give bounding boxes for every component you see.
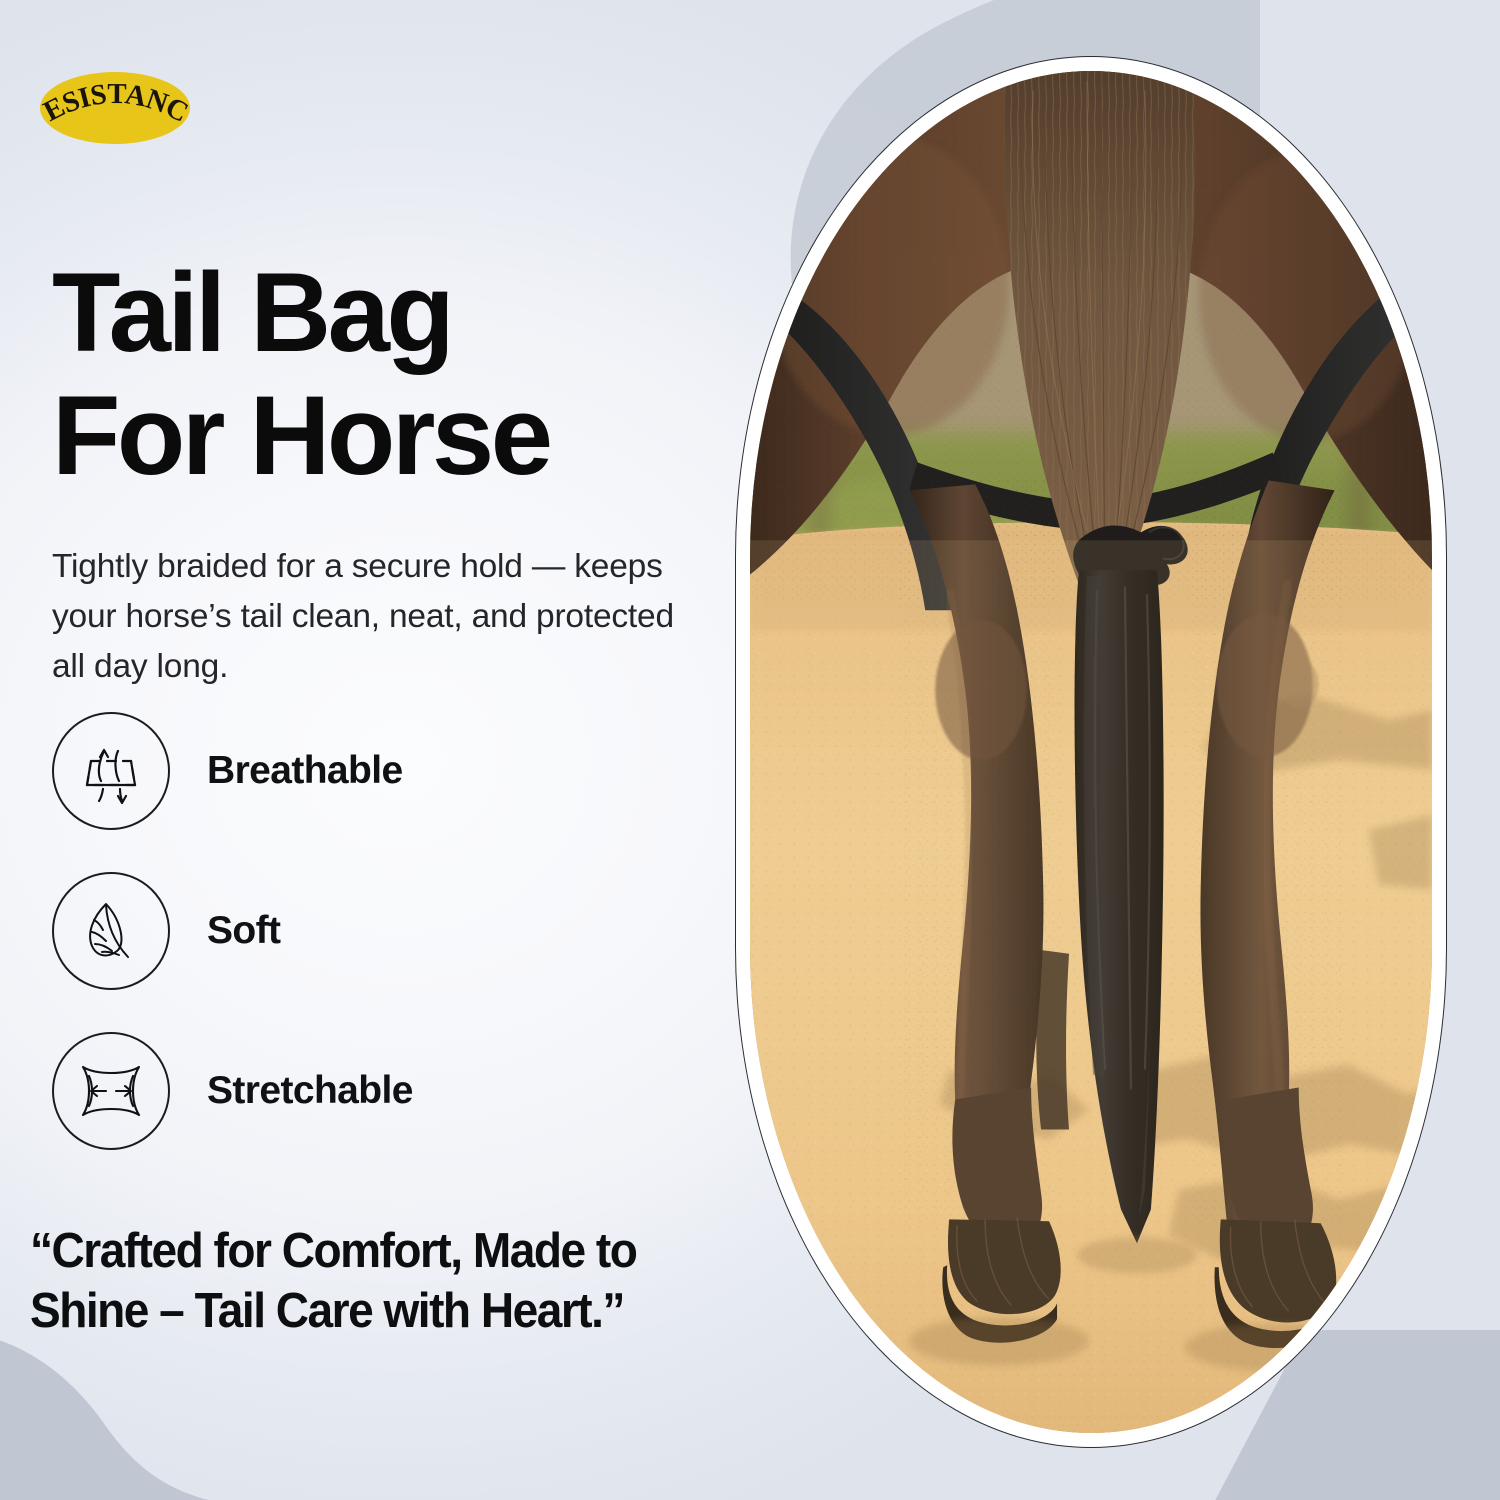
feature-label-stretchable: Stretchable <box>207 1069 413 1113</box>
decorative-blob-bottom-left <box>0 1320 360 1500</box>
feature-item-breathable: Breathable <box>52 712 652 830</box>
tagline-line-2: Shine – Tail Care with Heart.” <box>30 1282 707 1342</box>
page-title: Tail Bag For Horse <box>52 251 712 497</box>
product-photo <box>750 71 1432 1433</box>
feature-label-breathable: Breathable <box>207 749 403 793</box>
feature-list: Breathable Soft <box>52 712 652 1150</box>
breathable-fabric-airflow-icon <box>52 712 170 830</box>
headline-line-2: For Horse <box>52 374 712 497</box>
tagline-quote: “Crafted for Comfort, Made to Shine – Ta… <box>30 1222 707 1342</box>
product-infographic: RESISTANCE Tail Bag For Horse Tightly br… <box>0 0 1500 1500</box>
product-photo-frame <box>735 56 1447 1448</box>
feature-item-soft: Soft <box>52 872 652 990</box>
brand-logo: RESISTANCE <box>36 68 194 148</box>
tagline-line-1: “Crafted for Comfort, Made to <box>30 1222 707 1282</box>
subheading-text: Tightly braided for a secure hold — keep… <box>52 542 692 693</box>
stretch-arrows-icon <box>52 1032 170 1150</box>
headline-line-1: Tail Bag <box>52 251 712 374</box>
feather-icon <box>52 872 170 990</box>
feature-label-soft: Soft <box>207 909 280 953</box>
feature-item-stretchable: Stretchable <box>52 1032 652 1150</box>
